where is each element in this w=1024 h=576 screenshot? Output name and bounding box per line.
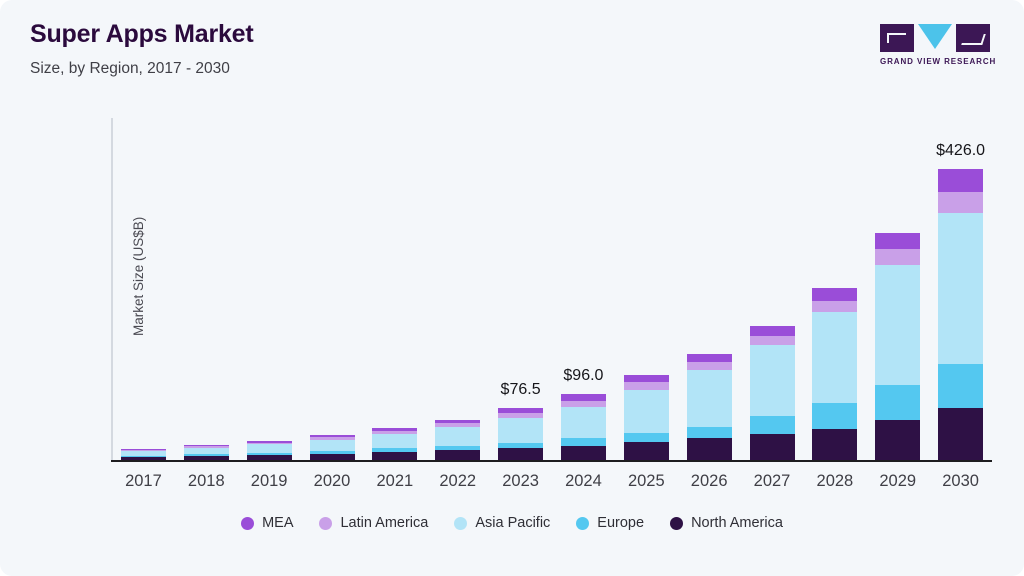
- bar-segment-asia-pacific[interactable]: [750, 345, 795, 416]
- table-row[interactable]: [184, 445, 229, 460]
- bar-segment-north-america[interactable]: [624, 442, 669, 460]
- table-row[interactable]: [812, 288, 857, 460]
- bar-slot: 2025: [615, 118, 678, 460]
- chart-header: Super Apps Market Size, by Region, 2017 …: [30, 20, 254, 78]
- bar-segment-europe[interactable]: [750, 416, 795, 434]
- x-axis-tick: 2027: [754, 472, 791, 491]
- legend-label: Latin America: [340, 515, 428, 531]
- bar-segment-north-america[interactable]: [812, 429, 857, 460]
- bar-segment-latin-america[interactable]: [812, 301, 857, 313]
- table-row[interactable]: [750, 326, 795, 460]
- bar-segment-latin-america[interactable]: [938, 192, 983, 213]
- bar-segment-mea[interactable]: [875, 233, 920, 249]
- bar-segment-europe[interactable]: [561, 438, 606, 445]
- bar-segment-asia-pacific[interactable]: [372, 434, 417, 448]
- bar-slot: 2026: [678, 118, 741, 460]
- bar-slot: 2028: [803, 118, 866, 460]
- bar-value-label: $426.0: [936, 142, 985, 160]
- legend-item-europe[interactable]: Europe: [576, 515, 644, 531]
- legend-swatch-icon: [576, 517, 589, 530]
- page-title: Super Apps Market: [30, 20, 254, 49]
- bar-segment-north-america[interactable]: [498, 448, 543, 460]
- table-row[interactable]: [372, 428, 417, 460]
- legend-swatch-icon: [319, 517, 332, 530]
- bar-slot: 2017: [112, 118, 175, 460]
- bar-slot: 2020: [301, 118, 364, 460]
- legend-item-asia-pacific[interactable]: Asia Pacific: [454, 515, 550, 531]
- bar-group: 201720182019202020212022$76.52023$96.020…: [112, 118, 992, 460]
- x-axis-tick: 2025: [628, 472, 665, 491]
- bar-slot: $76.52023: [489, 118, 552, 460]
- table-row[interactable]: [687, 354, 732, 460]
- bar-segment-europe[interactable]: [624, 433, 669, 442]
- legend-label: North America: [691, 515, 783, 531]
- x-axis-tick: 2030: [942, 472, 979, 491]
- bar-segment-asia-pacific[interactable]: [812, 312, 857, 402]
- bar-segment-latin-america[interactable]: [624, 382, 669, 389]
- bar-segment-europe[interactable]: [875, 385, 920, 419]
- bar-slot: 2022: [426, 118, 489, 460]
- x-axis-tick: 2029: [879, 472, 916, 491]
- x-axis-tick: 2018: [188, 472, 225, 491]
- plot-area: Market Size (US$B) 0100200300400500 2017…: [112, 118, 992, 460]
- bar-segment-asia-pacific[interactable]: [561, 407, 606, 438]
- bar-segment-latin-america[interactable]: [875, 249, 920, 265]
- bar-segment-north-america[interactable]: [875, 420, 920, 460]
- table-row[interactable]: [247, 441, 292, 460]
- bar-segment-north-america[interactable]: [938, 408, 983, 460]
- bar-segment-north-america[interactable]: [687, 438, 732, 460]
- bar-slot: 2027: [741, 118, 804, 460]
- bar-segment-mea[interactable]: [938, 169, 983, 192]
- bar-segment-mea[interactable]: [750, 326, 795, 336]
- chart-legend: MEALatin AmericaAsia PacificEuropeNorth …: [0, 515, 1024, 531]
- table-row[interactable]: [938, 169, 983, 460]
- x-axis-tick: 2019: [251, 472, 288, 491]
- legend-swatch-icon: [241, 517, 254, 530]
- chart-canvas: Super Apps Market Size, by Region, 2017 …: [0, 0, 1024, 576]
- bar-segment-mea[interactable]: [812, 288, 857, 300]
- bar-segment-asia-pacific[interactable]: [875, 265, 920, 385]
- bar-segment-north-america[interactable]: [561, 446, 606, 460]
- gvr-g-block-icon: [880, 24, 914, 52]
- grand-view-research-logo: GRAND VIEW RESEARCH: [880, 24, 990, 66]
- bar-segment-asia-pacific[interactable]: [687, 370, 732, 426]
- legend-label: Asia Pacific: [475, 515, 550, 531]
- gvr-r-block-icon: [956, 24, 990, 52]
- bar-segment-latin-america[interactable]: [687, 362, 732, 370]
- legend-item-mea[interactable]: MEA: [241, 515, 293, 531]
- bar-slot: $96.02024: [552, 118, 615, 460]
- x-axis-tick: 2017: [125, 472, 162, 491]
- legend-label: Europe: [597, 515, 644, 531]
- bar-segment-europe[interactable]: [687, 427, 732, 439]
- table-row[interactable]: [875, 233, 920, 460]
- x-axis-tick: 2020: [314, 472, 351, 491]
- table-row[interactable]: [310, 435, 355, 460]
- bar-segment-north-america[interactable]: [435, 450, 480, 460]
- bar-slot: 2029: [866, 118, 929, 460]
- legend-item-latin-america[interactable]: Latin America: [319, 515, 428, 531]
- x-axis-tick: 2028: [817, 472, 854, 491]
- table-row[interactable]: [561, 394, 606, 460]
- x-axis-line: [111, 460, 992, 462]
- bar-slot: 2021: [363, 118, 426, 460]
- legend-label: MEA: [262, 515, 293, 531]
- bar-segment-europe[interactable]: [938, 364, 983, 408]
- bar-segment-mea[interactable]: [687, 354, 732, 362]
- bar-segment-north-america[interactable]: [372, 452, 417, 460]
- x-axis-tick: 2026: [691, 472, 728, 491]
- x-axis-tick: 2023: [502, 472, 539, 491]
- bar-segment-asia-pacific[interactable]: [435, 427, 480, 446]
- bar-segment-asia-pacific[interactable]: [938, 213, 983, 364]
- bar-segment-europe[interactable]: [812, 403, 857, 429]
- bar-segment-latin-america[interactable]: [750, 336, 795, 345]
- table-row[interactable]: [121, 449, 166, 460]
- table-row[interactable]: [498, 408, 543, 460]
- bar-value-label: $96.0: [563, 367, 603, 385]
- bar-slot: 2018: [175, 118, 238, 460]
- logo-mark: [880, 24, 990, 52]
- table-row[interactable]: [624, 375, 669, 460]
- bar-segment-asia-pacific[interactable]: [247, 444, 292, 453]
- bar-segment-asia-pacific[interactable]: [310, 440, 355, 451]
- bar-segment-north-america[interactable]: [750, 434, 795, 460]
- table-row[interactable]: [435, 420, 480, 460]
- x-axis-tick: 2024: [565, 472, 602, 491]
- chart-subtitle: Size, by Region, 2017 - 2030: [30, 60, 254, 78]
- bar-segment-asia-pacific[interactable]: [624, 390, 669, 433]
- bar-segment-mea[interactable]: [624, 375, 669, 382]
- x-axis-tick: 2021: [377, 472, 414, 491]
- x-axis-tick: 2022: [439, 472, 476, 491]
- gvr-triangle-icon: [918, 24, 952, 49]
- legend-item-north-america[interactable]: North America: [670, 515, 783, 531]
- bar-segment-asia-pacific[interactable]: [498, 418, 543, 443]
- bar-slot: 2019: [238, 118, 301, 460]
- legend-swatch-icon: [670, 517, 683, 530]
- logo-wordmark: GRAND VIEW RESEARCH: [880, 57, 990, 66]
- bar-slot: $426.02030: [929, 118, 992, 460]
- legend-swatch-icon: [454, 517, 467, 530]
- bar-value-label: $76.5: [501, 381, 541, 399]
